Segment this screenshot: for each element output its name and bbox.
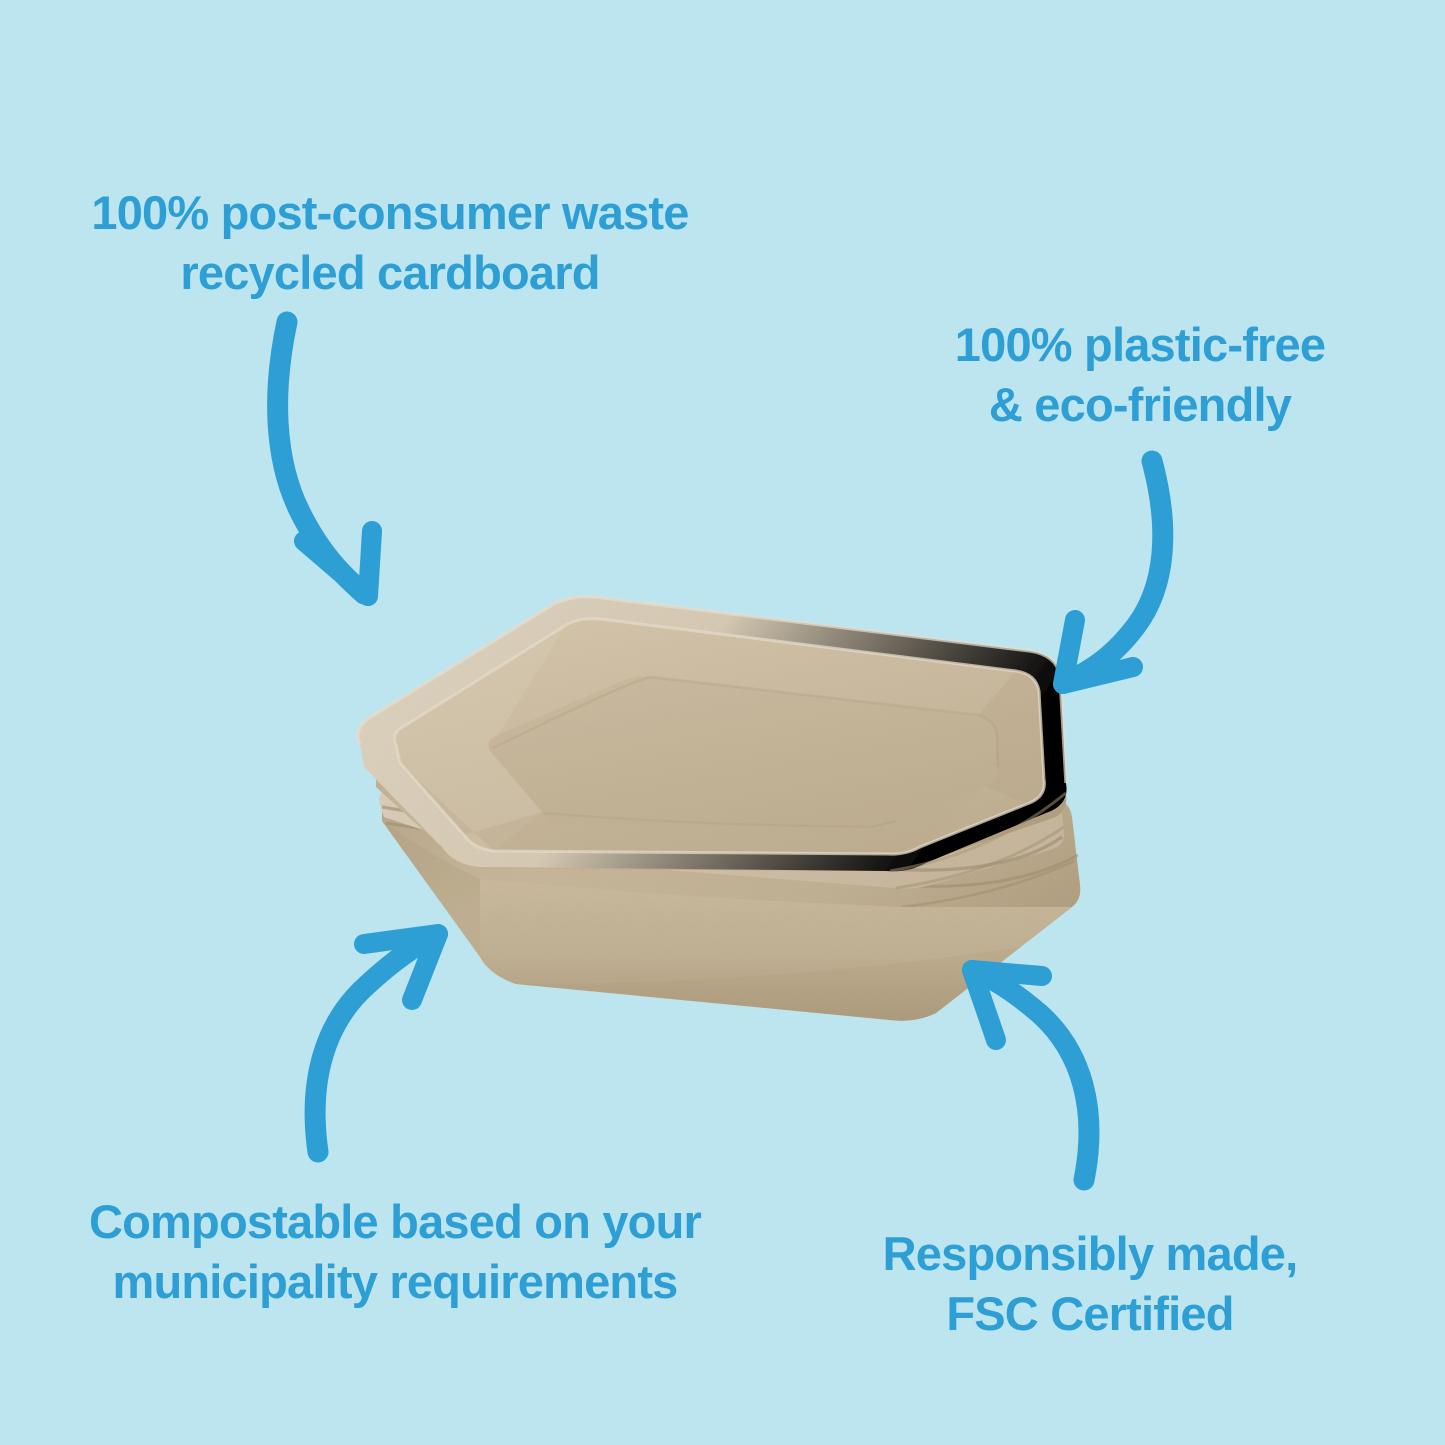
callout-text-compostable: Compostable based on your municipality r… — [35, 1192, 755, 1312]
product-infographic: 100% post-consumer waste recycled cardbo… — [0, 0, 1445, 1445]
tray-stack-illustration — [330, 555, 1090, 1030]
callout-text-plastic-free: 100% plastic-free & eco-friendly — [905, 315, 1375, 435]
callout-text-fsc-certified: Responsibly made, FSC Certified — [855, 1224, 1325, 1344]
callout-text-post-consumer-waste: 100% post-consumer waste recycled cardbo… — [40, 183, 740, 303]
product-image-stacked-fiber-trays — [330, 555, 1090, 1030]
tray-stack-group — [358, 597, 1080, 1021]
